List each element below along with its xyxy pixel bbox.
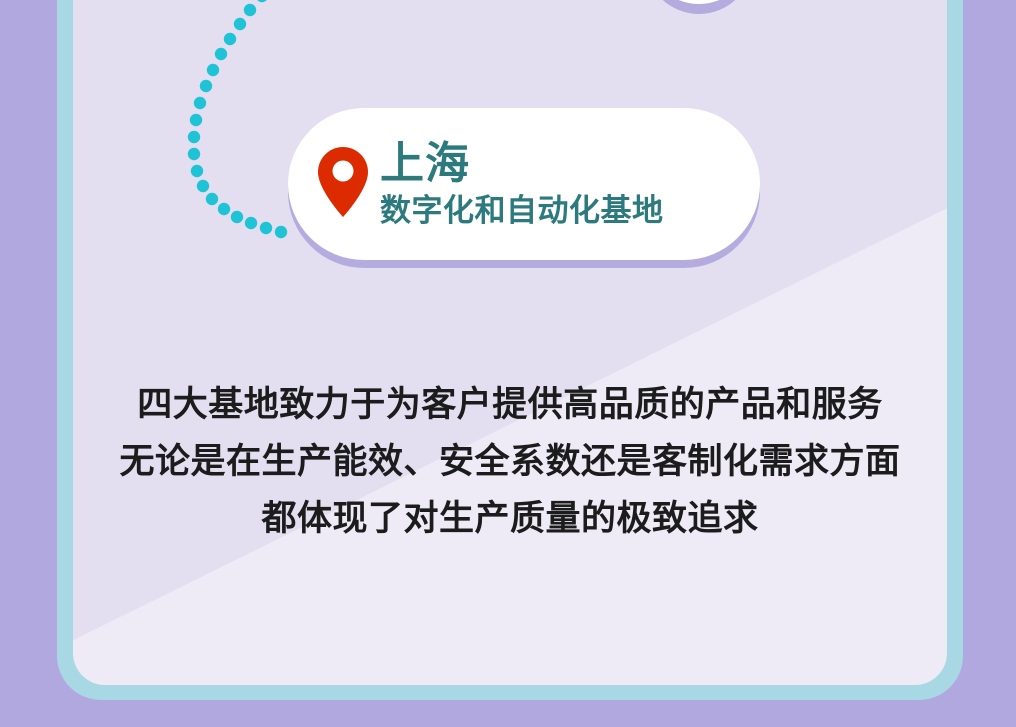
location-card[interactable]: 上海 数字化和自动化基地 (288, 108, 760, 260)
infographic-stage: 上海 数字化和自动化基地 四大基地致力于为客户提供高品质的产品和服务 无论是在生… (0, 0, 1016, 727)
body-line-3: 都体现了对生产质量的极致追求 (73, 490, 947, 547)
panel-frame (57, 0, 963, 700)
location-title: 上海 (380, 142, 664, 186)
body-line-1: 四大基地致力于为客户提供高品质的产品和服务 (73, 376, 947, 433)
body-line-2: 无论是在生产能效、安全系数还是客制化需求方面 (73, 433, 947, 490)
panel-inner (73, 0, 947, 685)
location-subtitle: 数字化和自动化基地 (380, 195, 664, 226)
map-pin-icon (306, 145, 380, 219)
body-copy: 四大基地致力于为客户提供高品质的产品和服务 无论是在生产能效、安全系数还是客制化… (73, 376, 947, 547)
location-card-text: 上海 数字化和自动化基地 (380, 142, 664, 226)
panel-diagonal-wedge (73, 0, 947, 685)
